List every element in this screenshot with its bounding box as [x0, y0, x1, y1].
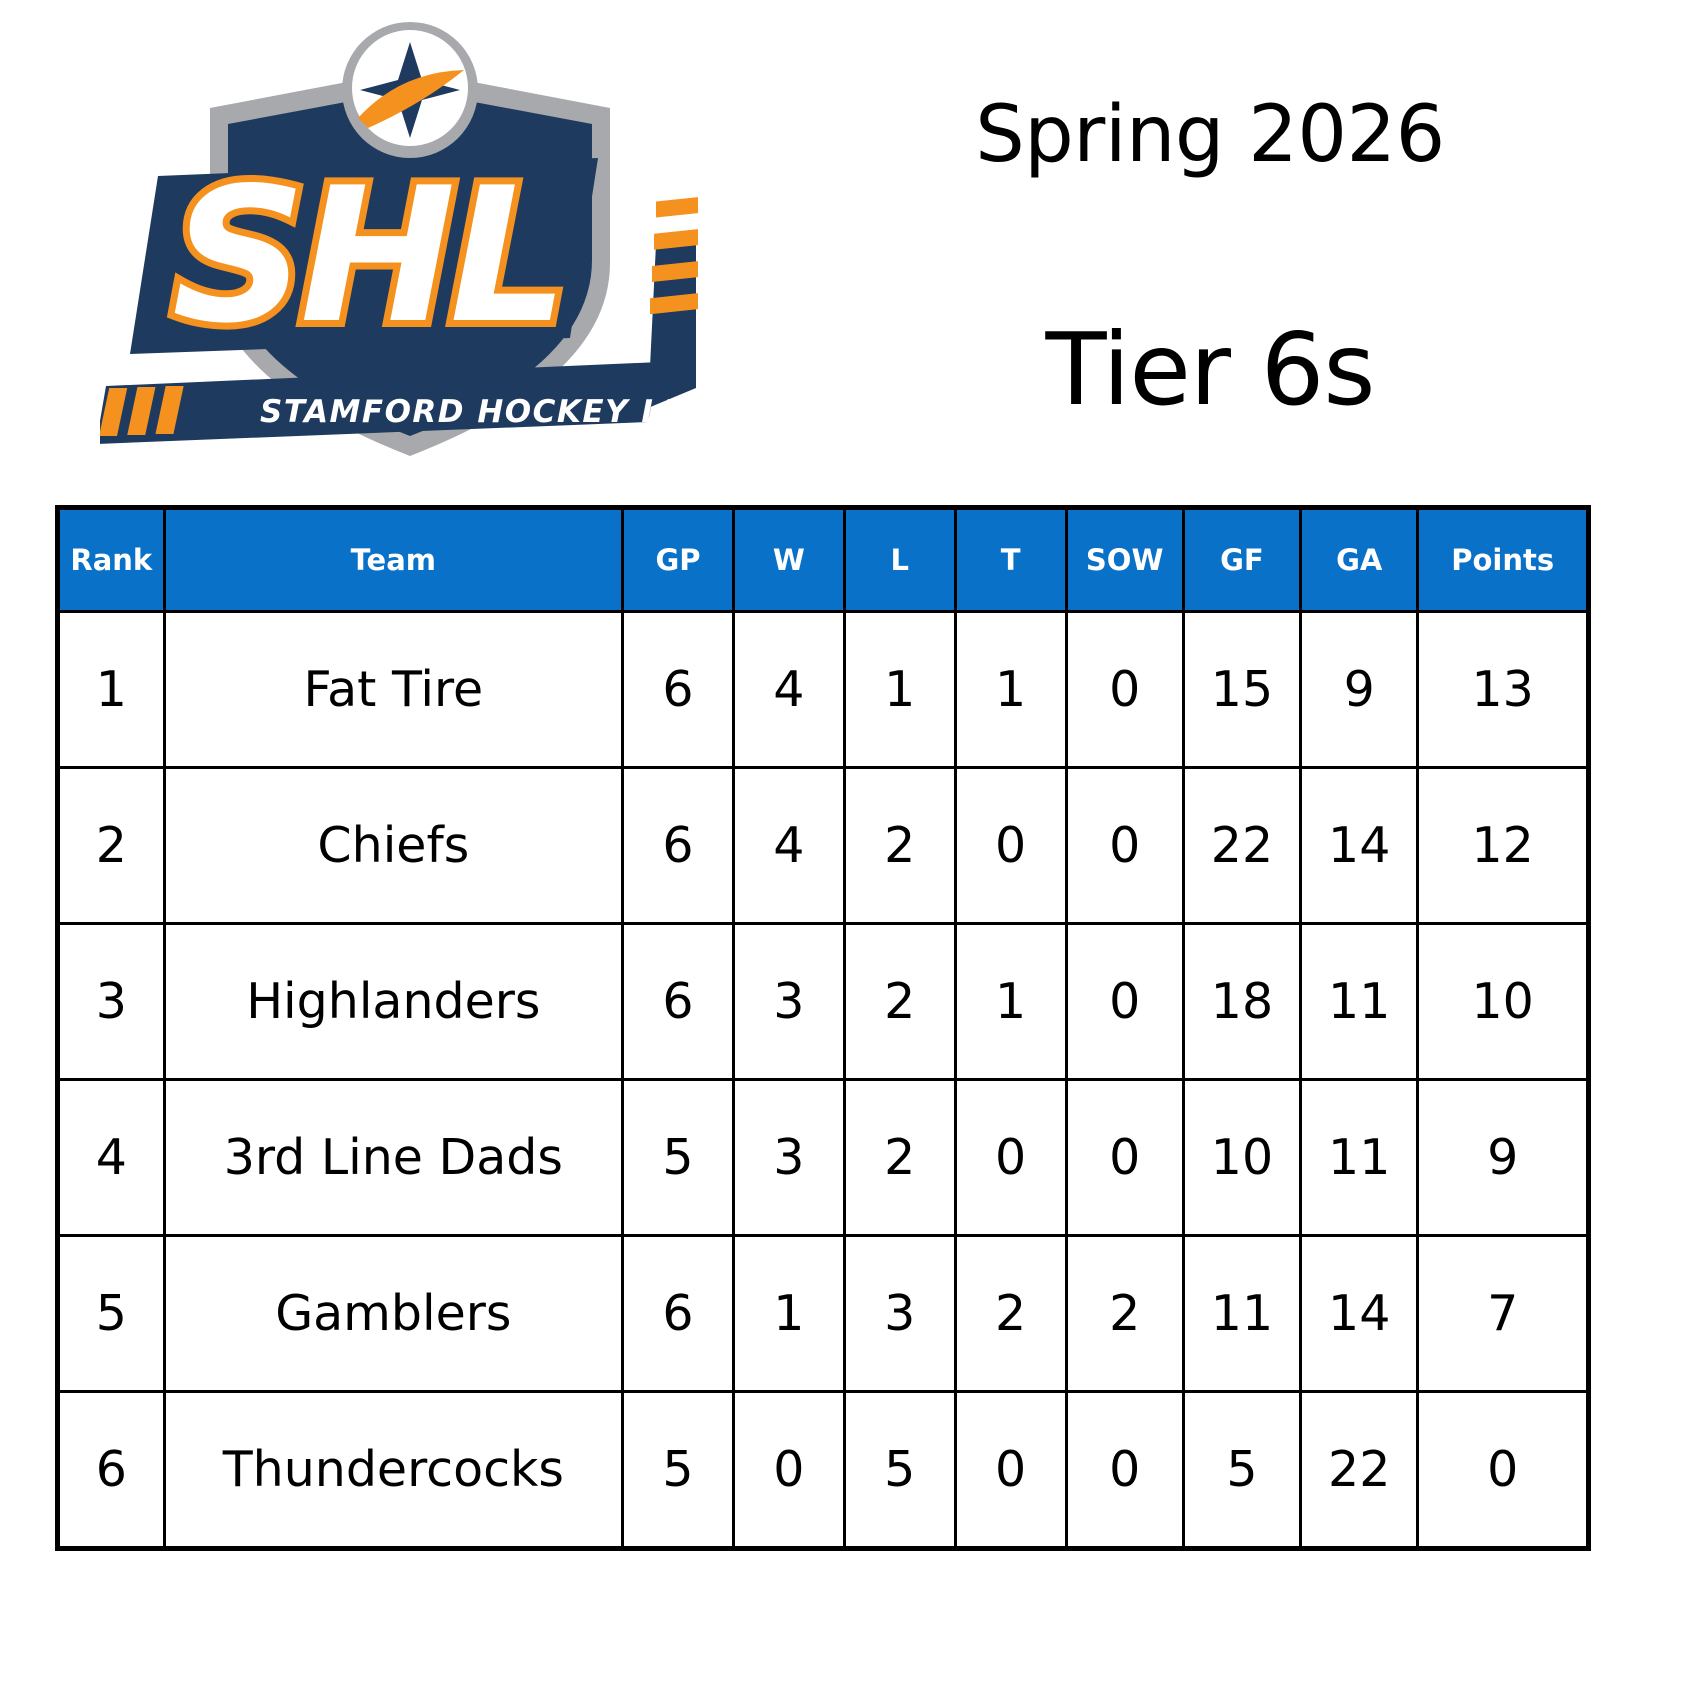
- cell-t: 1: [955, 924, 1066, 1080]
- cell-team: 3rd Line Dads: [164, 1080, 622, 1236]
- tier-title: Tier 6s: [860, 320, 1560, 420]
- cell-team: Thundercocks: [164, 1392, 622, 1549]
- cell-gp: 5: [623, 1392, 734, 1549]
- cell-gf: 11: [1183, 1236, 1300, 1392]
- cell-l: 2: [844, 768, 955, 924]
- shl-logo: SHL SHL STAMFORD HOCKEY LEAGUE: [100, 8, 720, 468]
- table-row: 2 Chiefs 6 4 2 0 0 22 14 12: [58, 768, 1589, 924]
- cell-points: 12: [1418, 768, 1589, 924]
- cell-gf: 22: [1183, 768, 1300, 924]
- table-row: 4 3rd Line Dads 5 3 2 0 0 10 11 9: [58, 1080, 1589, 1236]
- shl-logo-icon: SHL SHL STAMFORD HOCKEY LEAGUE: [100, 8, 720, 468]
- cell-gf: 10: [1183, 1080, 1300, 1236]
- cell-ga: 14: [1301, 768, 1418, 924]
- cell-w: 1: [733, 1236, 844, 1392]
- cell-sow: 0: [1066, 924, 1183, 1080]
- cell-points: 13: [1418, 612, 1589, 768]
- cell-rank: 5: [58, 1236, 165, 1392]
- cell-points: 9: [1418, 1080, 1589, 1236]
- cell-rank: 1: [58, 612, 165, 768]
- column-header-l[interactable]: L: [844, 508, 955, 612]
- cell-w: 3: [733, 1080, 844, 1236]
- cell-gf: 15: [1183, 612, 1300, 768]
- table-header-row: Rank Team GP W L T SOW GF GA Points: [58, 508, 1589, 612]
- cell-gp: 5: [623, 1080, 734, 1236]
- cell-ga: 11: [1301, 924, 1418, 1080]
- column-header-t[interactable]: T: [955, 508, 1066, 612]
- cell-sow: 0: [1066, 1392, 1183, 1549]
- cell-ga: 9: [1301, 612, 1418, 768]
- cell-points: 0: [1418, 1392, 1589, 1549]
- column-header-gf[interactable]: GF: [1183, 508, 1300, 612]
- cell-l: 2: [844, 924, 955, 1080]
- cell-rank: 3: [58, 924, 165, 1080]
- column-header-team[interactable]: Team: [164, 508, 622, 612]
- cell-team: Highlanders: [164, 924, 622, 1080]
- cell-w: 4: [733, 768, 844, 924]
- cell-l: 5: [844, 1392, 955, 1549]
- cell-ga: 14: [1301, 1236, 1418, 1392]
- svg-text:SHL: SHL: [172, 147, 562, 364]
- cell-gp: 6: [623, 1236, 734, 1392]
- cell-sow: 2: [1066, 1236, 1183, 1392]
- logo-banner-text: STAMFORD HOCKEY LEAGUE: [260, 394, 720, 430]
- column-header-points[interactable]: Points: [1418, 508, 1589, 612]
- cell-t: 2: [955, 1236, 1066, 1392]
- standings-table: Rank Team GP W L T SOW GF GA Points 1 Fa…: [55, 505, 1591, 1551]
- table-row: 5 Gamblers 6 1 3 2 2 11 14 7: [58, 1236, 1589, 1392]
- page-header: SHL SHL STAMFORD HOCKEY LEAGUE Spring 20…: [0, 0, 1699, 490]
- cell-w: 0: [733, 1392, 844, 1549]
- cell-t: 0: [955, 1080, 1066, 1236]
- cell-points: 10: [1418, 924, 1589, 1080]
- cell-l: 3: [844, 1236, 955, 1392]
- cell-gf: 18: [1183, 924, 1300, 1080]
- cell-t: 1: [955, 612, 1066, 768]
- title-block: Spring 2026 Tier 6s: [860, 0, 1560, 470]
- cell-team: Gamblers: [164, 1236, 622, 1392]
- cell-l: 1: [844, 612, 955, 768]
- cell-sow: 0: [1066, 1080, 1183, 1236]
- standings-table-wrapper: Rank Team GP W L T SOW GF GA Points 1 Fa…: [55, 505, 1591, 1551]
- cell-gp: 6: [623, 768, 734, 924]
- cell-l: 2: [844, 1080, 955, 1236]
- column-header-w[interactable]: W: [733, 508, 844, 612]
- cell-rank: 4: [58, 1080, 165, 1236]
- season-title: Spring 2026: [860, 96, 1560, 174]
- column-header-sow[interactable]: SOW: [1066, 508, 1183, 612]
- cell-ga: 22: [1301, 1392, 1418, 1549]
- cell-w: 3: [733, 924, 844, 1080]
- column-header-ga[interactable]: GA: [1301, 508, 1418, 612]
- cell-gp: 6: [623, 612, 734, 768]
- table-row: 3 Highlanders 6 3 2 1 0 18 11 10: [58, 924, 1589, 1080]
- cell-team: Chiefs: [164, 768, 622, 924]
- cell-t: 0: [955, 1392, 1066, 1549]
- cell-w: 4: [733, 612, 844, 768]
- cell-gf: 5: [1183, 1392, 1300, 1549]
- cell-rank: 2: [58, 768, 165, 924]
- cell-team: Fat Tire: [164, 612, 622, 768]
- cell-sow: 0: [1066, 612, 1183, 768]
- cell-gp: 6: [623, 924, 734, 1080]
- table-row: 6 Thundercocks 5 0 5 0 0 5 22 0: [58, 1392, 1589, 1549]
- column-header-gp[interactable]: GP: [623, 508, 734, 612]
- cell-t: 0: [955, 768, 1066, 924]
- cell-points: 7: [1418, 1236, 1589, 1392]
- table-row: 1 Fat Tire 6 4 1 1 0 15 9 13: [58, 612, 1589, 768]
- cell-ga: 11: [1301, 1080, 1418, 1236]
- column-header-rank[interactable]: Rank: [58, 508, 165, 612]
- cell-sow: 0: [1066, 768, 1183, 924]
- cell-rank: 6: [58, 1392, 165, 1549]
